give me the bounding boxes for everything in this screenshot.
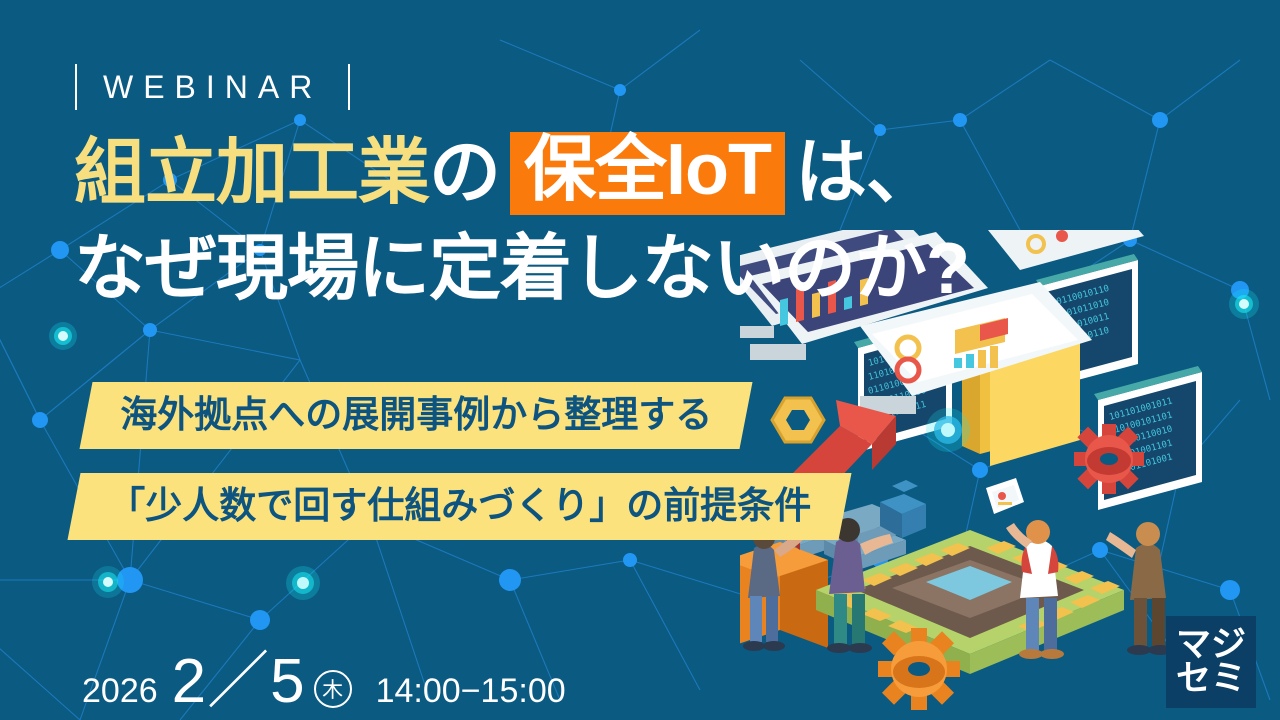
glow-node-group [926,408,970,452]
gear-icon [1074,424,1144,494]
schedule-time-range: 14:00−15:00 [376,672,566,711]
eyebrow-label: WEBINAR [103,71,322,103]
schedule-month-day: 2／5 [172,630,306,720]
subtitle-ribbon-1-label: 海外拠点への展開事例から整理する [120,396,712,433]
logo-line-1: マジ [1176,628,1246,662]
title-segment-line2: なぜ現場に定着しないのか? [74,231,969,309]
eyebrow-rule-right [348,64,350,110]
page-title: 組立加工業 の 保全IoT は、 なぜ現場に定着しないのか? [74,132,969,309]
eyebrow-webinar: WEBINAR [75,64,350,110]
eyebrow-rule-left [75,64,77,110]
subtitle-ribbon-2: 「少人数で回す仕組みづくり」の前提条件 [67,473,851,540]
title-line-2: なぜ現場に定着しないのか? [74,231,969,309]
logo-line-2: セミ [1176,662,1246,696]
majiseminar-logo[interactable]: マジ セミ [1166,616,1256,708]
subtitle-ribbons: 海外拠点への展開事例から整理する 「少人数で回す仕組みづくり」の前提条件 [0,382,845,540]
schedule-day-of-week: 木 [314,670,352,708]
title-highlight-badge: 保全IoT [510,132,785,215]
title-segment-particle: の [429,135,500,213]
webinar-banner: 10110100101 11010010110 01101001011 1001… [0,0,1280,720]
title-segment-suffix: は、 [795,135,937,213]
subtitle-ribbon-1: 海外拠点への展開事例から整理する [79,382,752,449]
schedule-year: 2026 [82,672,158,711]
gear-icon [878,628,960,710]
subtitle-ribbon-2-label: 「少人数で回す仕組みづくり」の前提条件 [108,487,811,524]
schedule-line: 2026 2／5 木 14:00−15:00 [82,630,566,720]
title-segment-yellow: 組立加工業 [74,135,429,213]
title-line-1: 組立加工業 の 保全IoT は、 [74,132,969,215]
